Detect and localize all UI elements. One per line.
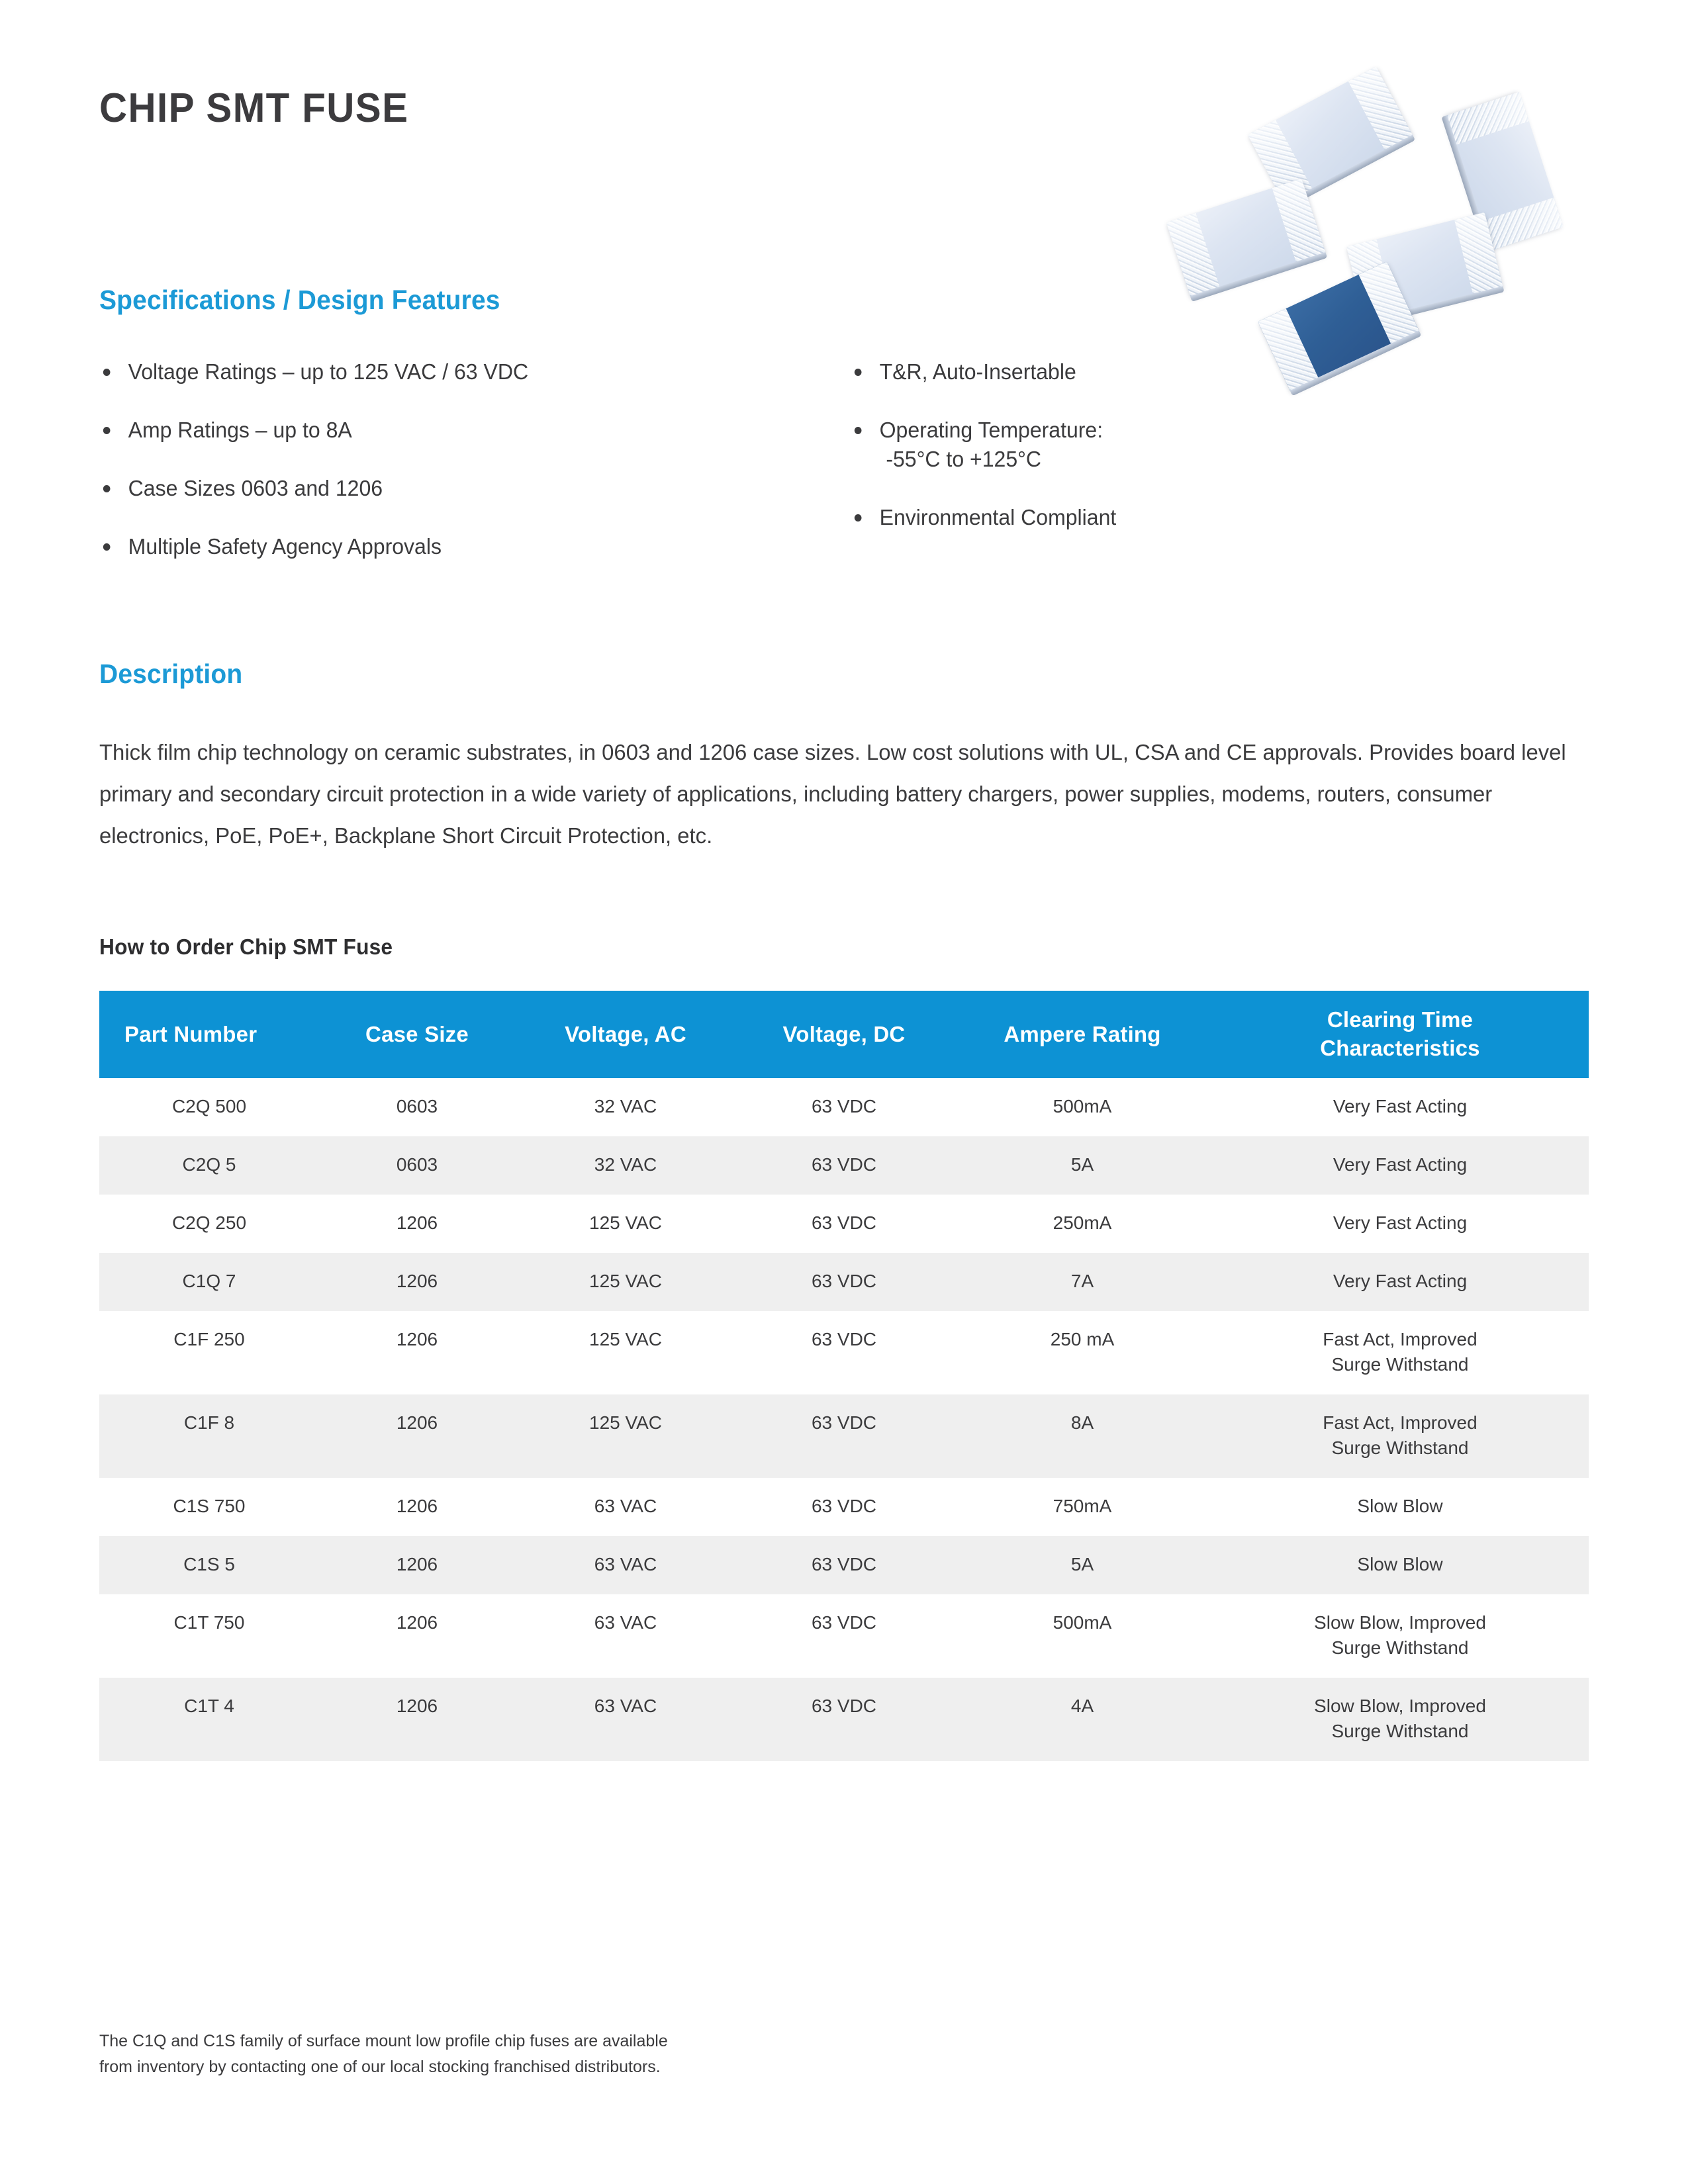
- cell-part-number: C1S 750: [99, 1478, 318, 1536]
- bullet-text: Operating Temperature:: [880, 418, 1103, 442]
- chip-fuse-3: [1166, 179, 1327, 298]
- cell-ampere-rating: 250mA: [953, 1195, 1211, 1253]
- bullet-dot-icon: [103, 369, 111, 376]
- cell-part-number: C1T 750: [99, 1594, 318, 1678]
- chip-fuse-1: [1248, 66, 1414, 205]
- bullet-text: Environmental Compliant: [880, 505, 1117, 529]
- cell-part-number: C1S 5: [99, 1536, 318, 1594]
- cell-case-size: 0603: [318, 1078, 516, 1136]
- list-item: Operating Temperature:-55°C to +125°C: [851, 416, 1248, 474]
- column-header-part-number: Part Number: [99, 991, 318, 1078]
- cell-voltage-ac: 63 VAC: [516, 1478, 735, 1536]
- bullet-dot-icon: [103, 543, 111, 551]
- list-item: Environmental Compliant: [851, 503, 1248, 532]
- cell-voltage-dc: 63 VDC: [735, 1678, 953, 1761]
- bullet-text: Voltage Ratings – up to 125 VAC / 63 VDC: [128, 359, 528, 384]
- datasheet-page: CHIP SMT FUSE: [0, 0, 1688, 2184]
- cell-clearing-time: Slow Blow: [1211, 1536, 1589, 1594]
- bullet-text: Case Sizes 0603 and 1206: [128, 476, 383, 500]
- cell-case-size: 1206: [318, 1594, 516, 1678]
- column-header-case-size: Case Size: [318, 991, 516, 1078]
- table-row: C1T 750120663 VAC63 VDC500mASlow Blow, I…: [99, 1594, 1589, 1678]
- cell-clearing-time: Fast Act, Improved Surge Withstand: [1211, 1394, 1589, 1478]
- table-row: C1Q 71206125 VAC63 VDC7AVery Fast Acting: [99, 1253, 1589, 1311]
- list-item: Voltage Ratings – up to 125 VAC / 63 VDC: [99, 357, 780, 387]
- cell-case-size: 1206: [318, 1478, 516, 1536]
- cell-voltage-dc: 63 VDC: [735, 1078, 953, 1136]
- column-header-voltage-dc: Voltage, DC: [735, 991, 953, 1078]
- bullet-dot-icon: [855, 427, 862, 434]
- description-heading: Description: [99, 659, 242, 690]
- bullet-dot-icon: [103, 485, 111, 492]
- cell-clearing-time: Very Fast Acting: [1211, 1078, 1589, 1136]
- bullet-text: T&R, Auto-Insertable: [880, 359, 1076, 384]
- specifications-right-list: T&R, Auto-Insertable Operating Temperatu…: [851, 357, 1261, 561]
- cell-case-size: 1206: [318, 1195, 516, 1253]
- cell-voltage-dc: 63 VDC: [735, 1536, 953, 1594]
- cell-part-number: C1F 250: [99, 1311, 318, 1394]
- cell-voltage-dc: 63 VDC: [735, 1253, 953, 1311]
- cell-ampere-rating: 5A: [953, 1136, 1211, 1195]
- bullet-dot-icon: [103, 427, 111, 434]
- cell-voltage-dc: 63 VDC: [735, 1195, 953, 1253]
- cell-voltage-ac: 125 VAC: [516, 1394, 735, 1478]
- table-row: C1F 81206125 VAC63 VDC8AFast Act, Improv…: [99, 1394, 1589, 1478]
- page-title: CHIP SMT FUSE: [99, 85, 408, 132]
- cell-case-size: 0603: [318, 1136, 516, 1195]
- chip-fuse-5-dark: [1258, 261, 1420, 392]
- cell-ampere-rating: 500mA: [953, 1078, 1211, 1136]
- order-section-heading: How to Order Chip SMT Fuse: [99, 934, 393, 960]
- table-header: Part Number Case Size Voltage, AC Voltag…: [99, 991, 1589, 1078]
- cell-ampere-rating: 4A: [953, 1678, 1211, 1761]
- bullet-dot-icon: [855, 514, 862, 522]
- cell-voltage-ac: 32 VAC: [516, 1078, 735, 1136]
- cell-voltage-dc: 63 VDC: [735, 1478, 953, 1536]
- cell-voltage-dc: 63 VDC: [735, 1136, 953, 1195]
- footnote-line-1: The C1Q and C1S family of surface mount …: [99, 2028, 927, 2054]
- cell-ampere-rating: 750mA: [953, 1478, 1211, 1536]
- column-header-ampere-rating: Ampere Rating: [953, 991, 1211, 1078]
- list-item: T&R, Auto-Insertable: [851, 357, 1248, 387]
- cell-part-number: C2Q 500: [99, 1078, 318, 1136]
- specifications-left-list: Voltage Ratings – up to 125 VAC / 63 VDC…: [99, 357, 801, 590]
- cell-case-size: 1206: [318, 1536, 516, 1594]
- cell-clearing-time: Fast Act, Improved Surge Withstand: [1211, 1311, 1589, 1394]
- table-row: C2Q 2501206125 VAC63 VDC250mAVery Fast A…: [99, 1195, 1589, 1253]
- table-row: C1S 5120663 VAC63 VDC5ASlow Blow: [99, 1536, 1589, 1594]
- cell-clearing-time: Slow Blow, Improved Surge Withstand: [1211, 1678, 1589, 1761]
- cell-voltage-ac: 63 VAC: [516, 1594, 735, 1678]
- cell-clearing-time: Slow Blow, Improved Surge Withstand: [1211, 1594, 1589, 1678]
- cell-voltage-dc: 63 VDC: [735, 1594, 953, 1678]
- cell-ampere-rating: 8A: [953, 1394, 1211, 1478]
- cell-ampere-rating: 500mA: [953, 1594, 1211, 1678]
- cell-clearing-time: Slow Blow: [1211, 1478, 1589, 1536]
- table-row: C2Q 500060332 VAC63 VDC500mAVery Fast Ac…: [99, 1078, 1589, 1136]
- column-header-clearing-time: Clearing Time Characteristics: [1211, 991, 1589, 1078]
- cell-voltage-dc: 63 VDC: [735, 1394, 953, 1478]
- cell-voltage-dc: 63 VDC: [735, 1311, 953, 1394]
- list-item: Case Sizes 0603 and 1206: [99, 474, 780, 503]
- cell-clearing-time: Very Fast Acting: [1211, 1253, 1589, 1311]
- cell-part-number: C1F 8: [99, 1394, 318, 1478]
- column-header-voltage-ac: Voltage, AC: [516, 991, 735, 1078]
- table-body: C2Q 500060332 VAC63 VDC500mAVery Fast Ac…: [99, 1078, 1589, 1761]
- list-item: Amp Ratings – up to 8A: [99, 416, 780, 445]
- cell-voltage-ac: 125 VAC: [516, 1253, 735, 1311]
- table-row: C1T 4120663 VAC63 VDC4ASlow Blow, Improv…: [99, 1678, 1589, 1761]
- order-table: Part Number Case Size Voltage, AC Voltag…: [99, 991, 1589, 1761]
- cell-part-number: C2Q 5: [99, 1136, 318, 1195]
- bullet-text: Amp Ratings – up to 8A: [128, 418, 352, 442]
- cell-voltage-ac: 63 VAC: [516, 1536, 735, 1594]
- table-row: C2Q 5060332 VAC63 VDC5AVery Fast Acting: [99, 1136, 1589, 1195]
- footnote-line-2: from inventory by contacting one of our …: [99, 2054, 927, 2080]
- bullet-subtext: -55°C to +125°C: [880, 445, 1249, 474]
- cell-case-size: 1206: [318, 1253, 516, 1311]
- cell-voltage-ac: 125 VAC: [516, 1311, 735, 1394]
- cell-clearing-time: Very Fast Acting: [1211, 1195, 1589, 1253]
- table-header-row: Part Number Case Size Voltage, AC Voltag…: [99, 991, 1589, 1078]
- description-body: Thick film chip technology on ceramic su…: [99, 731, 1578, 856]
- cell-part-number: C1T 4: [99, 1678, 318, 1761]
- cell-part-number: C2Q 250: [99, 1195, 318, 1253]
- bullet-text: Multiple Safety Agency Approvals: [128, 534, 442, 559]
- cell-case-size: 1206: [318, 1311, 516, 1394]
- cell-ampere-rating: 7A: [953, 1253, 1211, 1311]
- bullet-dot-icon: [855, 369, 862, 376]
- table-row: C1S 750120663 VAC63 VDC750mASlow Blow: [99, 1478, 1589, 1536]
- cell-part-number: C1Q 7: [99, 1253, 318, 1311]
- cell-clearing-time: Very Fast Acting: [1211, 1136, 1589, 1195]
- list-item: Multiple Safety Agency Approvals: [99, 532, 780, 561]
- cell-case-size: 1206: [318, 1394, 516, 1478]
- footnote: The C1Q and C1S family of surface mount …: [99, 2028, 927, 2080]
- cell-case-size: 1206: [318, 1678, 516, 1761]
- cell-voltage-ac: 63 VAC: [516, 1678, 735, 1761]
- cell-ampere-rating: 250 mA: [953, 1311, 1211, 1394]
- cell-ampere-rating: 5A: [953, 1536, 1211, 1594]
- table-row: C1F 2501206125 VAC63 VDC250 mAFast Act, …: [99, 1311, 1589, 1394]
- specifications-heading: Specifications / Design Features: [99, 285, 500, 316]
- cell-voltage-ac: 32 VAC: [516, 1136, 735, 1195]
- cell-voltage-ac: 125 VAC: [516, 1195, 735, 1253]
